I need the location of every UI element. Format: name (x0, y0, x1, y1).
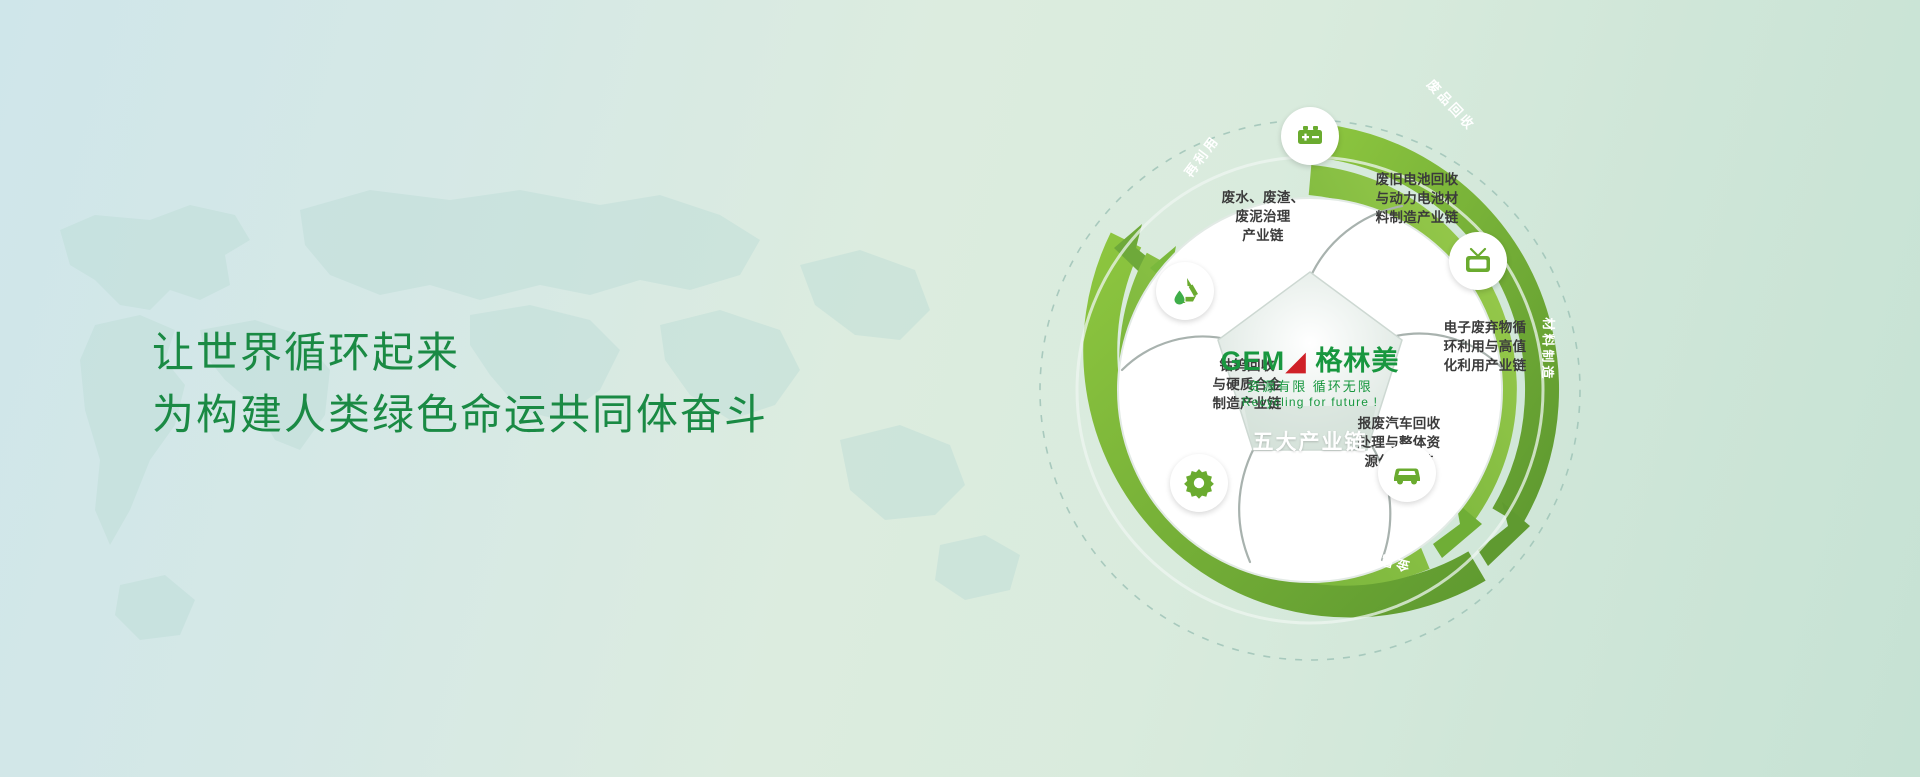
gem-slogan-en: Recycling for future ! (1180, 395, 1440, 410)
battery-icon (1294, 120, 1326, 152)
gem-logo-mark: ◢ (1285, 346, 1307, 376)
center-brand-block: GEM◢ 格林美 资源有限 循环无限 Recycling for future … (1180, 346, 1440, 456)
television-icon-bubble[interactable] (1449, 232, 1507, 290)
hero-banner: 让世界循环起来 为构建人类绿色命运共同体奋斗 (0, 0, 1920, 777)
television-icon (1462, 245, 1494, 277)
page-title: 让世界循环起来 为构建人类绿色命运共同体奋斗 (152, 322, 768, 446)
gem-logo-latin: GEM (1221, 346, 1286, 376)
segment-label-battery: 废旧电池回收 与动力电池材 料制造产业链 (1352, 170, 1482, 227)
five-industry-chain-diagram: 废水、废渣、 废泥治理 产业链 废旧电池回收 与动力电池材 料制造产业链 电子废… (1030, 10, 1590, 770)
recycle-droplet-icon-bubble[interactable] (1156, 262, 1214, 320)
car-icon-bubble[interactable] (1378, 444, 1436, 502)
car-icon (1390, 456, 1424, 490)
headline-line-2: 为构建人类绿色命运共同体奋斗 (152, 384, 768, 446)
gem-logo: GEM◢ 格林美 (1180, 346, 1440, 376)
headline-line-1: 让世界循环起来 (152, 329, 460, 376)
gem-slogan-cn: 资源有限 循环无限 (1180, 379, 1440, 395)
ring-label-material-manufacturing: 材料制造 (1539, 317, 1559, 381)
gem-logo-cn: 格林美 (1315, 346, 1399, 376)
recycle-droplet-icon (1168, 274, 1202, 308)
segment-label-waste-water: 废水、废渣、 废泥治理 产业链 (1198, 188, 1328, 245)
battery-icon-bubble[interactable] (1281, 107, 1339, 165)
gear-icon-bubble[interactable] (1170, 454, 1228, 512)
gear-icon (1183, 467, 1215, 499)
